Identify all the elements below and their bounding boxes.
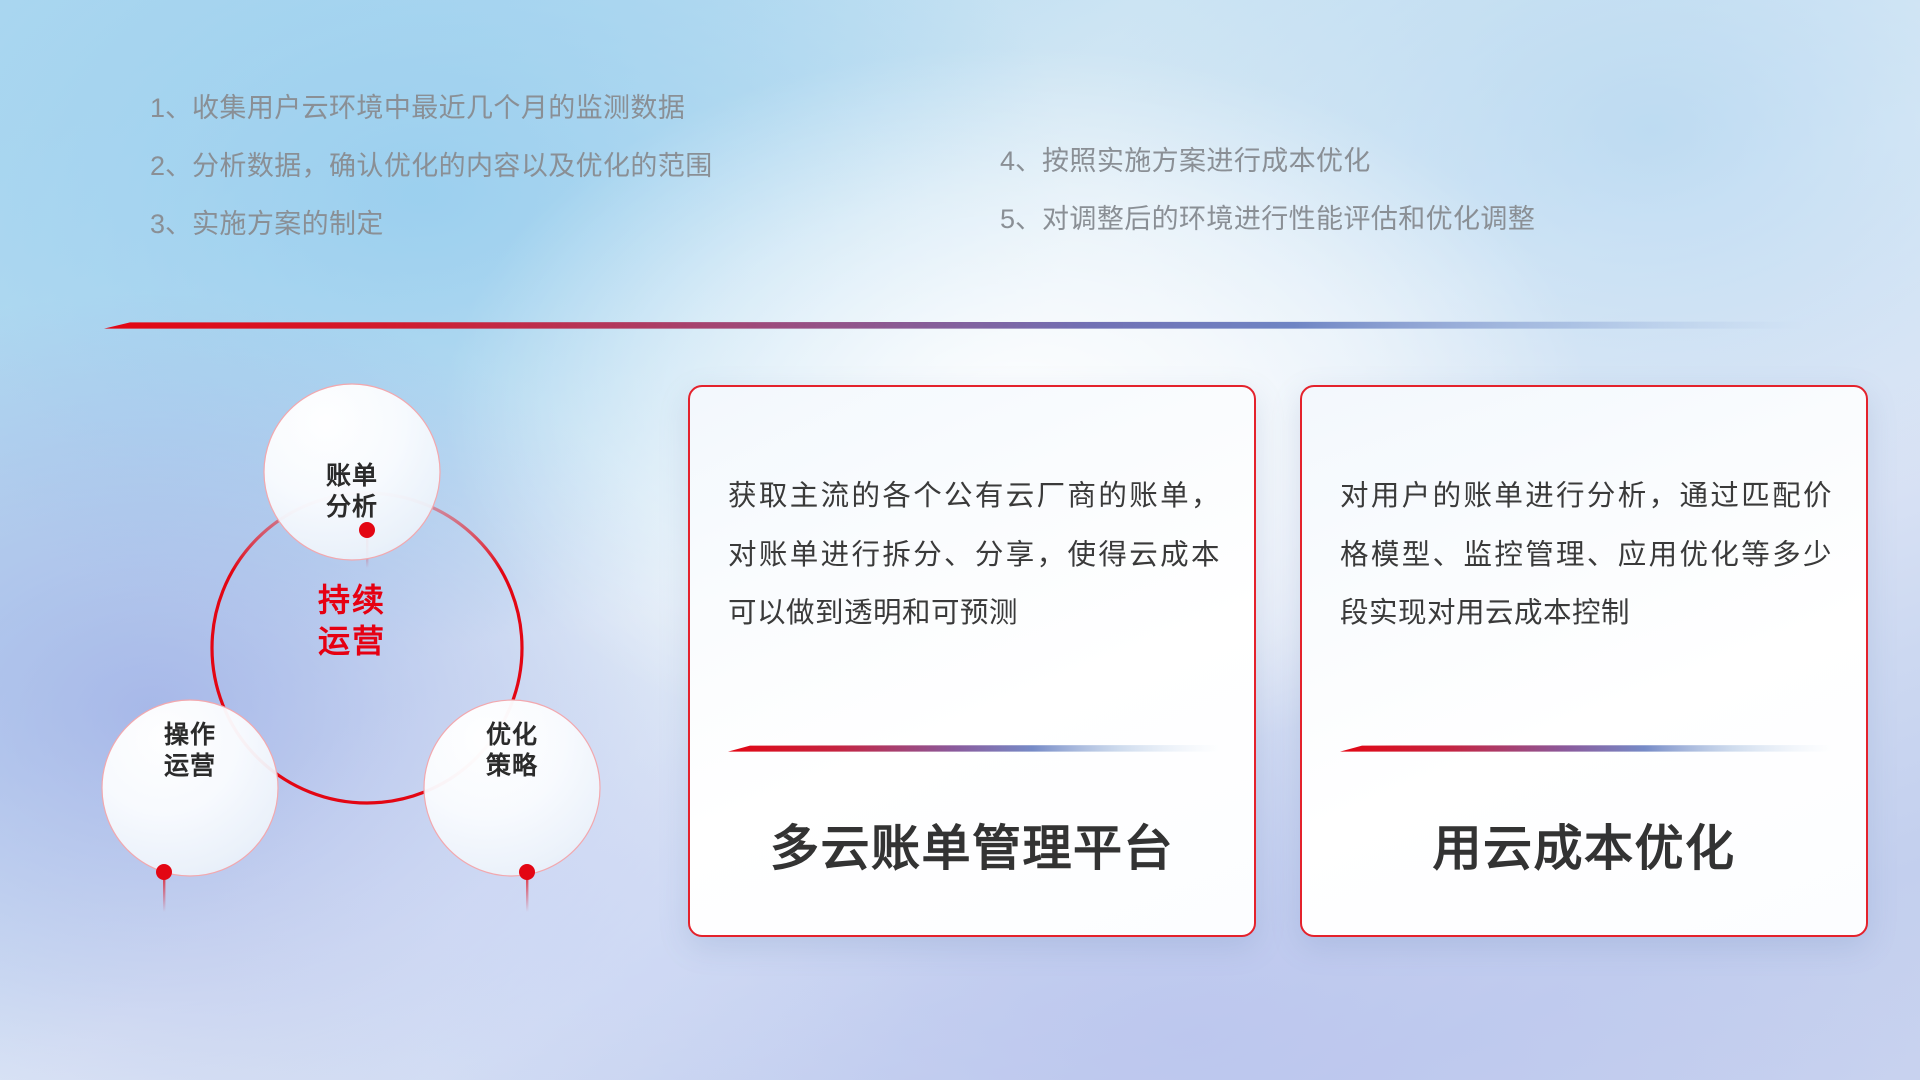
- step-number: 2、: [150, 151, 192, 181]
- connector-dot-policy: [519, 864, 535, 880]
- node-label-line1: 账单: [292, 461, 412, 492]
- step-text: 分析数据，确认优化的内容以及优化的范围: [192, 151, 713, 181]
- node-label-optimization-policy: 优化 策略: [452, 720, 572, 782]
- node-label-line1: 优化: [452, 720, 572, 751]
- step-number: 4、: [1000, 146, 1042, 176]
- center-label-line2: 运营: [282, 621, 422, 662]
- step-item-5: 5、对调整后的环境进行性能评估和优化调整: [1000, 206, 1535, 233]
- node-label-line2: 分析: [292, 492, 412, 523]
- step-item-2: 2、分析数据，确认优化的内容以及优化的范围: [150, 153, 713, 180]
- step-text: 按照实施方案进行成本优化: [1042, 146, 1371, 176]
- node-label-bill-analysis: 账单 分析: [292, 461, 412, 523]
- card-title: 多云账单管理平台: [690, 809, 1254, 880]
- step-text: 收集用户云环境中最近几个月的监测数据: [192, 93, 685, 123]
- card-body-text: 获取主流的各个公有云厂商的账单，对账单进行拆分、分享，使得云成本可以做到透明和可…: [728, 467, 1220, 643]
- steps-left-column: 1、收集用户云环境中最近几个月的监测数据 2、分析数据，确认优化的内容以及优化的…: [150, 95, 713, 269]
- steps-right-column: 4、按照实施方案进行成本优化 5、对调整后的环境进行性能评估和优化调整: [1000, 148, 1535, 264]
- center-label-line1: 持续: [282, 580, 422, 621]
- card-divider: [1340, 739, 1832, 747]
- diagram-center-label: 持续 运营: [282, 580, 422, 662]
- step-number: 1、: [150, 93, 192, 123]
- step-item-4: 4、按照实施方案进行成本优化: [1000, 148, 1535, 175]
- continuous-operation-diagram: 账单 分析 操作 运营 优化 策略 持续 运营: [100, 348, 660, 948]
- node-label-line1: 操作: [130, 720, 250, 751]
- step-number: 3、: [150, 209, 192, 239]
- card-multi-cloud-bill-platform[interactable]: 获取主流的各个公有云厂商的账单，对账单进行拆分、分享，使得云成本可以做到透明和可…: [688, 385, 1256, 937]
- card-cloud-cost-optimization[interactable]: 对用户的账单进行分析，通过匹配价格模型、监控管理、应用优化等多少段实现对用云成本…: [1300, 385, 1868, 937]
- node-label-operations: 操作 运营: [130, 720, 250, 782]
- connector-dot-ops: [156, 864, 172, 880]
- card-body-text: 对用户的账单进行分析，通过匹配价格模型、监控管理、应用优化等多少段实现对用云成本…: [1340, 467, 1832, 643]
- slide-canvas: 1、收集用户云环境中最近几个月的监测数据 2、分析数据，确认优化的内容以及优化的…: [0, 0, 1920, 1080]
- card-divider: [728, 739, 1220, 747]
- step-number: 5、: [1000, 204, 1042, 234]
- step-item-1: 1、收集用户云环境中最近几个月的监测数据: [150, 95, 713, 122]
- card-title: 用云成本优化: [1302, 809, 1866, 880]
- step-text: 实施方案的制定: [192, 209, 384, 239]
- step-item-3: 3、实施方案的制定: [150, 211, 713, 238]
- connector-dot-bill: [359, 522, 375, 538]
- section-divider: [104, 316, 1804, 325]
- node-label-line2: 运营: [130, 751, 250, 782]
- node-label-line2: 策略: [452, 751, 572, 782]
- step-text: 对调整后的环境进行性能评估和优化调整: [1042, 204, 1535, 234]
